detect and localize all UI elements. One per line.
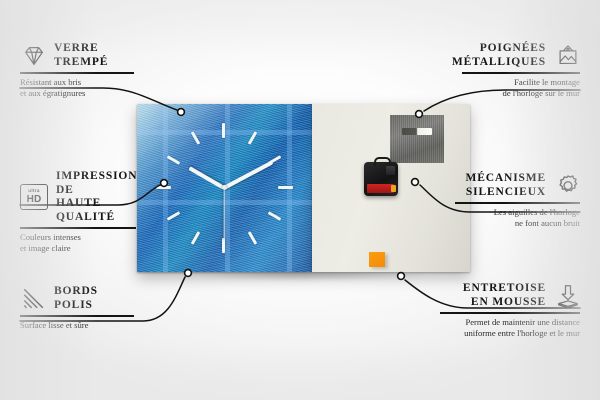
battery xyxy=(367,184,394,193)
callout-title: MÉCANISME SILENCIEUX xyxy=(466,172,547,199)
callout-divider xyxy=(455,202,580,204)
callout-mecanisme-silencieux: MÉCANISME SILENCIEUX Les aiguilles de l'… xyxy=(455,172,580,228)
diamond-icon xyxy=(20,43,46,69)
callout-subtitle: Permet de maintenir une distance uniform… xyxy=(440,317,580,338)
foam-spacer-arrow-icon xyxy=(554,283,580,309)
ultra-hd-badge-icon: ultra HD xyxy=(20,184,48,210)
callout-title: IMPRESSION DE HAUTE QUALITÉ xyxy=(56,170,137,224)
hanger-slot xyxy=(402,128,432,135)
ultra-hd-badge-main: HD xyxy=(27,195,42,205)
callout-title: POIGNÉES MÉTALLIQUES xyxy=(452,42,546,69)
tick-12 xyxy=(222,123,225,138)
callout-title: VERRE TREMPÉ xyxy=(54,42,108,69)
callout-title: ENTRETOISE EN MOUSSE xyxy=(463,282,546,309)
product-image xyxy=(137,104,470,272)
clock-back-panel xyxy=(312,104,470,272)
callout-divider xyxy=(440,312,580,314)
infographic-canvas: VERRE TREMPÉ Résistant aux bris et aux é… xyxy=(0,0,600,400)
clock-mechanism xyxy=(364,162,398,196)
callout-verre-trempe: VERRE TREMPÉ Résistant aux bris et aux é… xyxy=(20,42,134,98)
second-hand xyxy=(223,188,224,240)
callout-bords-polis: BORDS POLIS Surface lisse et sûre xyxy=(20,285,134,331)
callout-subtitle: Couleurs intenses et image claire xyxy=(20,232,136,253)
mechanism-dial xyxy=(386,166,395,175)
callout-subtitle: Facilite le montage de l'horloge sur le … xyxy=(462,77,580,98)
clock-hub xyxy=(222,185,227,190)
polished-edges-icon xyxy=(20,286,46,312)
metal-hanger-plate xyxy=(390,115,444,163)
callout-entretoise-mousse: ENTRETOISE EN MOUSSE Permet de maintenir… xyxy=(440,282,580,338)
tick-3 xyxy=(278,186,293,189)
callout-impression-hd: ultra HD IMPRESSION DE HAUTE QUALITÉ Cou… xyxy=(20,170,136,253)
framed-picture-icon xyxy=(554,43,580,69)
callout-divider xyxy=(462,72,580,74)
callout-subtitle: Surface lisse et sûre xyxy=(20,320,134,331)
foam-spacer xyxy=(369,252,385,267)
tick-9 xyxy=(156,186,171,189)
callout-subtitle: Résistant aux bris et aux égratignures xyxy=(20,77,134,98)
callout-subtitle: Les aiguilles de l'horloge ne font aucun… xyxy=(455,207,580,228)
gear-icon xyxy=(554,173,580,199)
callout-divider xyxy=(20,72,134,74)
callout-divider xyxy=(20,315,134,317)
tick-6 xyxy=(222,238,225,253)
callout-divider xyxy=(20,227,136,229)
callout-title: BORDS POLIS xyxy=(54,285,98,312)
mechanism-hook xyxy=(374,157,391,166)
glass-clock-face xyxy=(137,104,312,272)
callout-poignees-metalliques: POIGNÉES MÉTALLIQUES Facilite le montage… xyxy=(462,42,580,98)
